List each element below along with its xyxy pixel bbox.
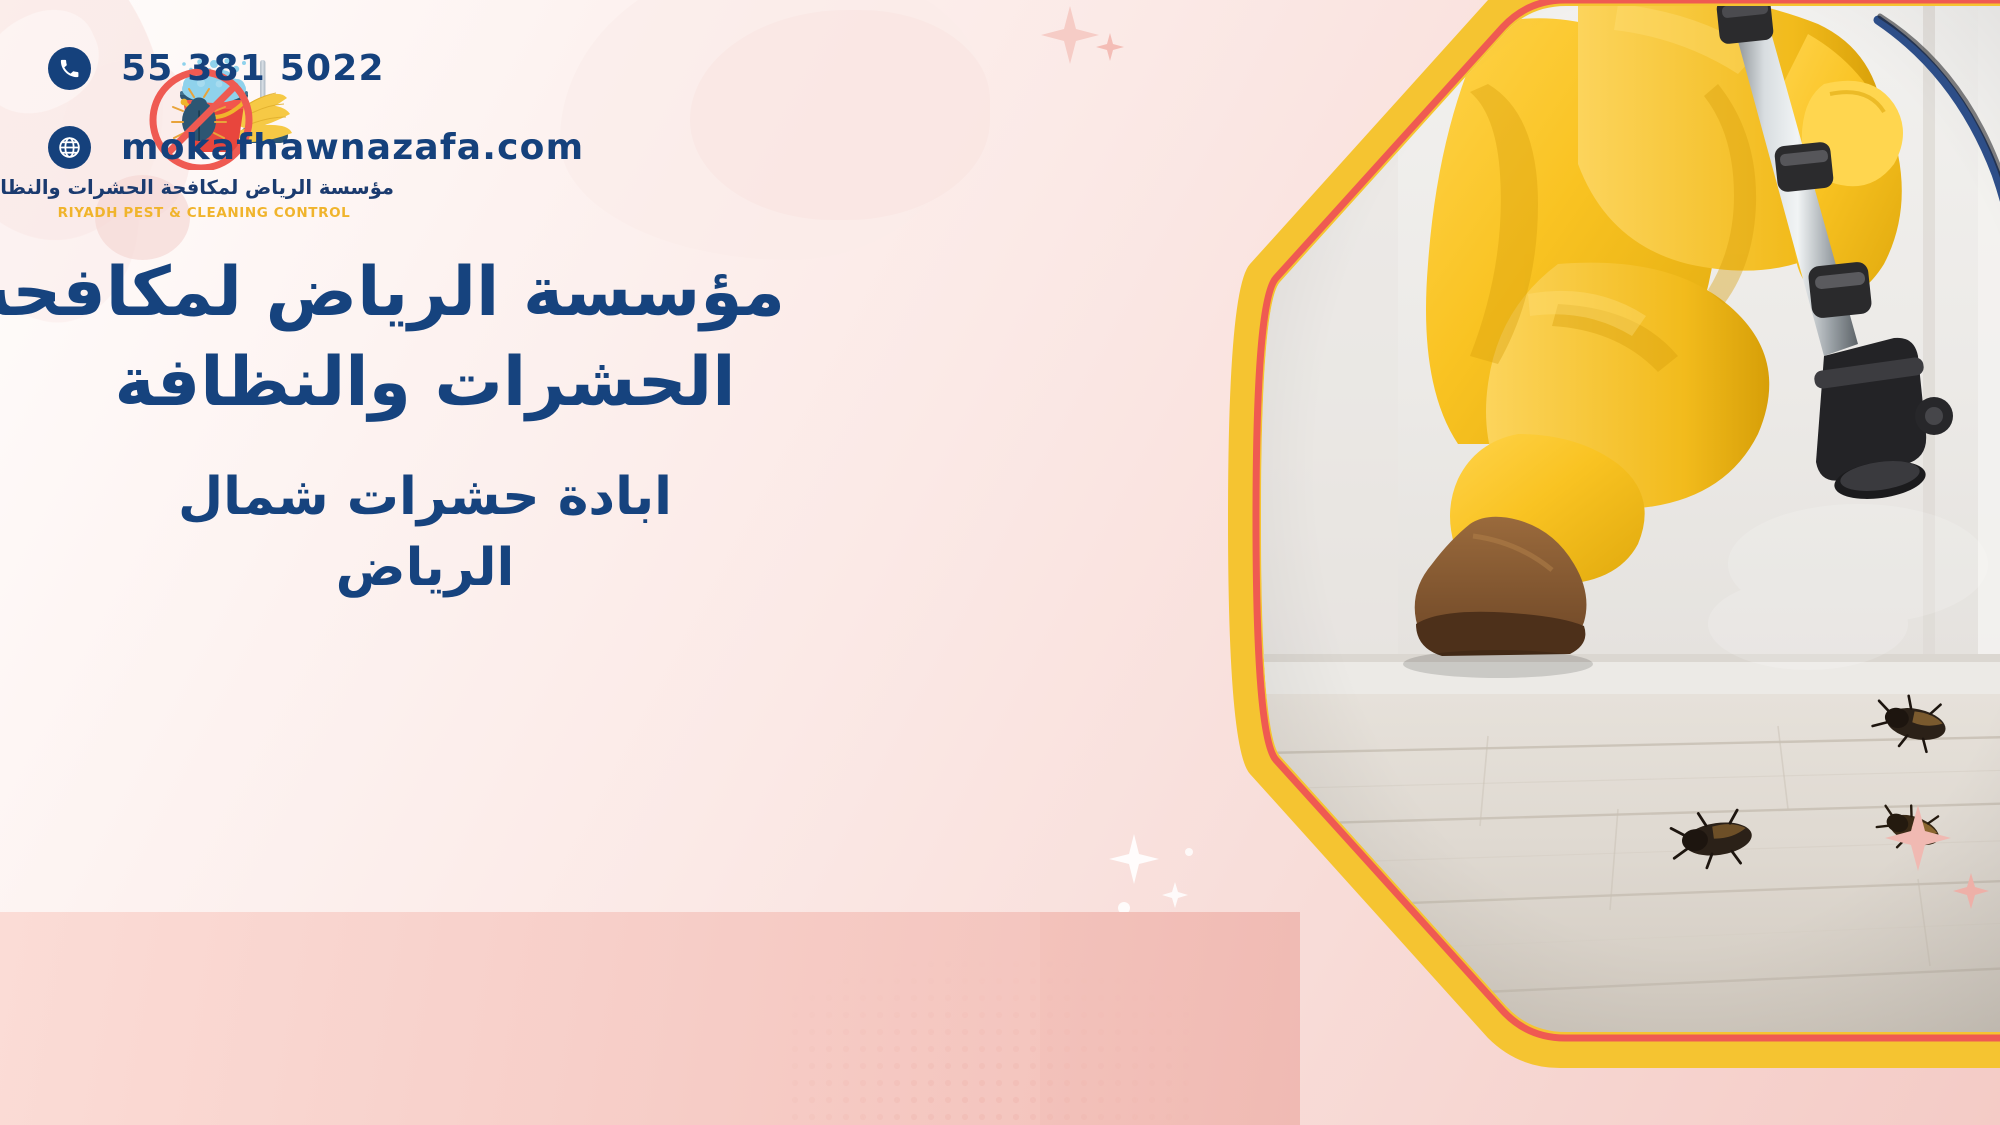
- phone-number: 55 381 5022: [121, 48, 385, 89]
- sparkle-icon: [1160, 880, 1190, 910]
- hero-photo: [1218, 0, 2000, 1074]
- page-subtitle: ابادة حشرات شمال الرياض: [65, 462, 785, 603]
- headline-line-1: مؤسسة الرياض لمكافحة: [65, 248, 785, 338]
- contact-website[interactable]: mokafhawnazafa.com: [48, 126, 584, 169]
- sparkle-icon: [1950, 870, 1992, 912]
- website-url: mokafhawnazafa.com: [121, 127, 584, 168]
- logo-arabic-text: مؤسسة الرياض لمكافحة الحشرات والنظافة: [14, 176, 394, 199]
- phone-icon: [48, 47, 91, 90]
- logo-english-text: RIYADH PEST & CLEANING CONTROL: [14, 205, 394, 221]
- sparkle-icon: [1105, 830, 1163, 888]
- hero-photo-frame: [1018, 0, 2000, 1074]
- headline-line-2: الحشرات والنظافة: [65, 338, 785, 428]
- contact-phone[interactable]: 55 381 5022: [48, 47, 385, 90]
- subheadline-line-1: ابادة حشرات شمال: [65, 462, 785, 533]
- sparkle-icon: [1093, 30, 1127, 64]
- background-blob: [690, 10, 990, 220]
- promo-banner: مؤسسة الرياض لمكافحة الحشرات والنظافة RI…: [0, 0, 2000, 1125]
- sparkle-icon: [1880, 800, 1956, 876]
- page-title: مؤسسة الرياض لمكافحة الحشرات والنظافة: [65, 248, 785, 429]
- globe-icon: [48, 126, 91, 169]
- subheadline-line-2: الرياض: [65, 533, 785, 604]
